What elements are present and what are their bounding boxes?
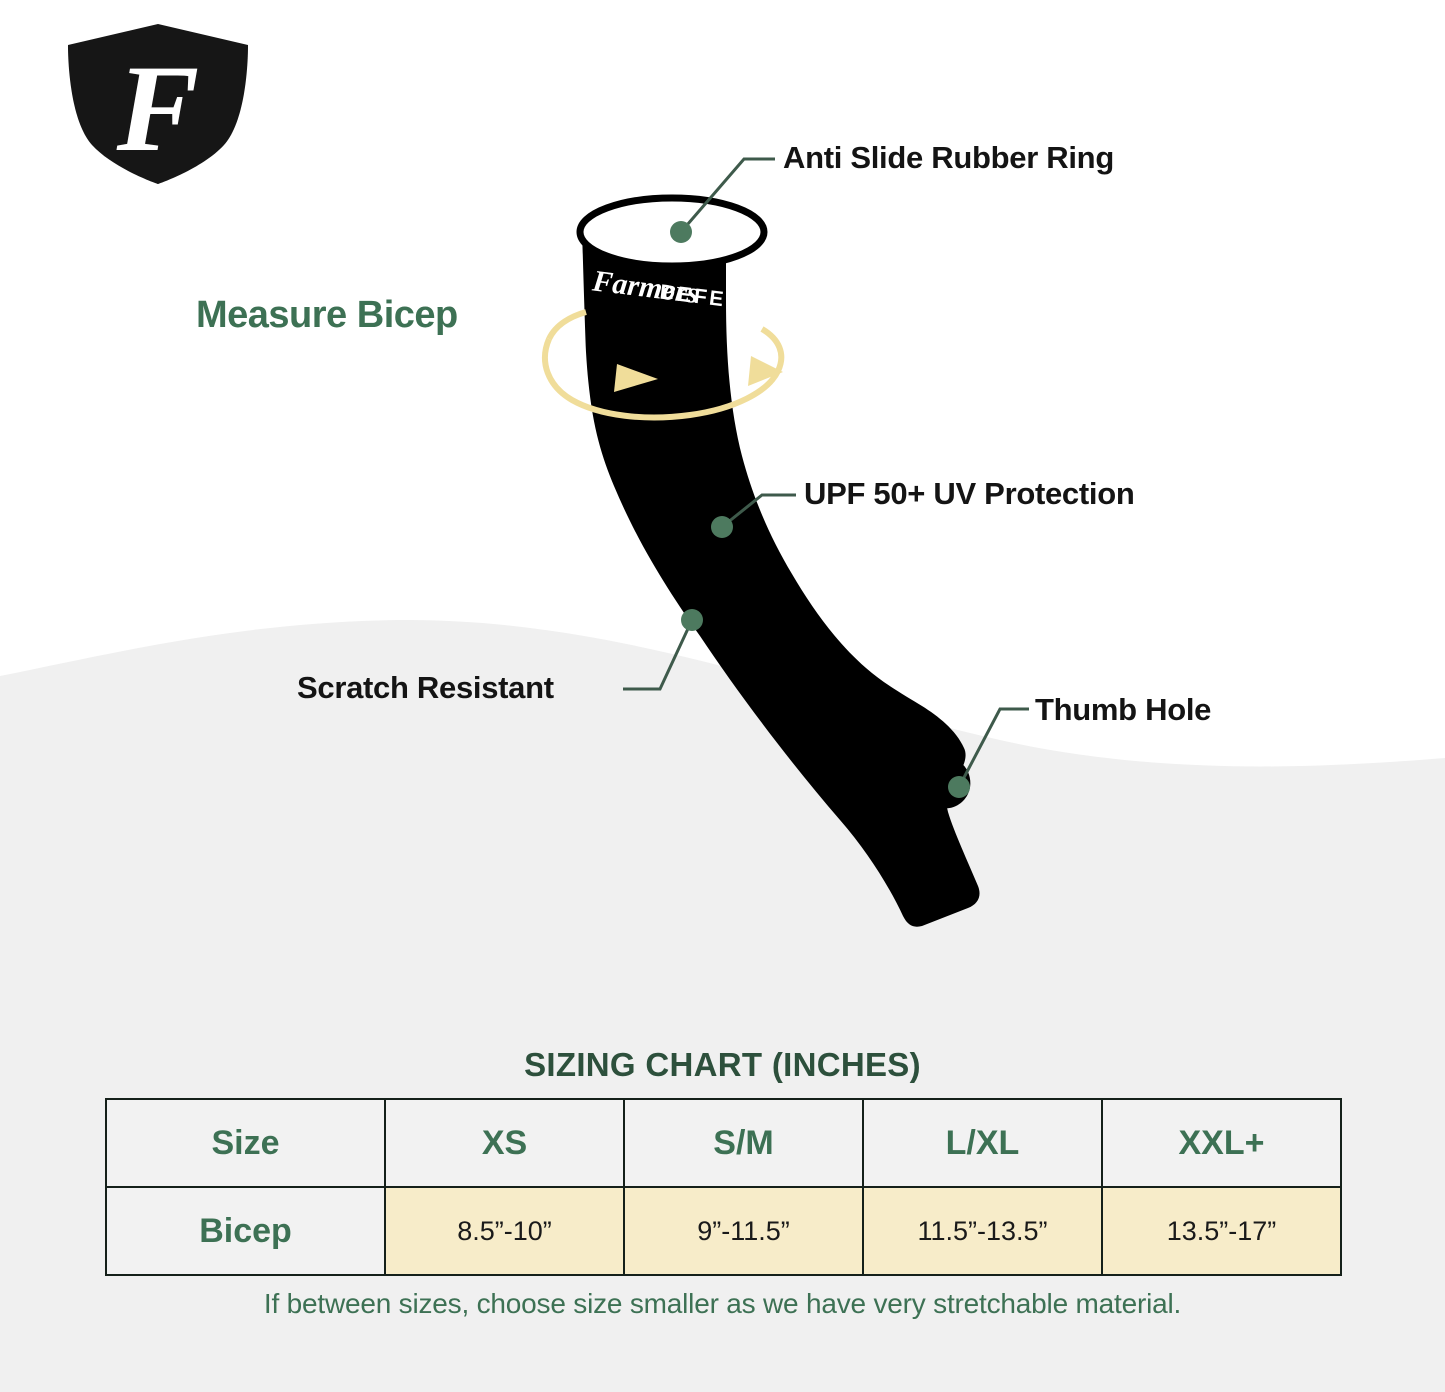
table-header-xs: XS <box>385 1099 624 1187</box>
table-cell-bicep-xs: 8.5”-10” <box>385 1187 624 1275</box>
callout-label-upf-protection: UPF 50+ UV Protection <box>804 478 1134 509</box>
table-header-sm: S/M <box>624 1099 863 1187</box>
shield-logo-letter: F <box>116 40 200 177</box>
sizing-chart-table: Size XS S/M L/XL XXL+ Bicep 8.5”-10” 9”-… <box>105 1098 1342 1276</box>
table-row-header: Size XS S/M L/XL XXL+ <box>106 1099 1341 1187</box>
sleeve-silhouette <box>580 198 980 927</box>
sizing-chart-title: SIZING CHART (INCHES) <box>0 1046 1445 1084</box>
table-cell-bicep-sm: 9”-11.5” <box>624 1187 863 1275</box>
leader-upf <box>722 495 796 527</box>
callout-leader-lines <box>623 159 1029 787</box>
table-header-size: Size <box>106 1099 385 1187</box>
table-row-label-bicep: Bicep <box>106 1187 385 1275</box>
table-header-lxl: L/XL <box>863 1099 1102 1187</box>
dot-upf <box>711 516 733 538</box>
sleeve-wordmark-script: Farmers <box>590 264 701 310</box>
shield-logo-icon: F <box>52 14 264 194</box>
table-header-xxl: XXL+ <box>1102 1099 1341 1187</box>
dot-anti-slide <box>670 221 692 243</box>
callout-label-scratch-resistant: Scratch Resistant <box>297 672 554 703</box>
circular-measure-arrow-icon <box>545 312 781 417</box>
leader-thumb <box>959 709 1029 787</box>
sleeve-wordmark: Farmers DEFENSE <box>590 264 779 319</box>
table-cell-bicep-xxl: 13.5”-17” <box>1102 1187 1341 1275</box>
dot-scratch <box>681 609 703 631</box>
measure-arrowheads <box>614 356 783 392</box>
callout-label-anti-slide-rubber-ring: Anti Slide Rubber Ring <box>783 142 1114 173</box>
sizing-guide-page: F Farmers DEFENSE <box>0 0 1445 1392</box>
leader-scratch <box>623 620 692 689</box>
dot-thumb <box>948 776 970 798</box>
leader-anti-slide <box>681 159 775 232</box>
measure-bicep-label: Measure Bicep <box>196 296 458 334</box>
sleeve-wordmark-block: DEFENSE <box>659 281 778 318</box>
sizing-chart-note: If between sizes, choose size smaller as… <box>0 1288 1445 1320</box>
callout-label-thumb-hole: Thumb Hole <box>1035 694 1211 725</box>
table-cell-bicep-lxl: 11.5”-13.5” <box>863 1187 1102 1275</box>
table-row-bicep: Bicep 8.5”-10” 9”-11.5” 11.5”-13.5” 13.5… <box>106 1187 1341 1275</box>
